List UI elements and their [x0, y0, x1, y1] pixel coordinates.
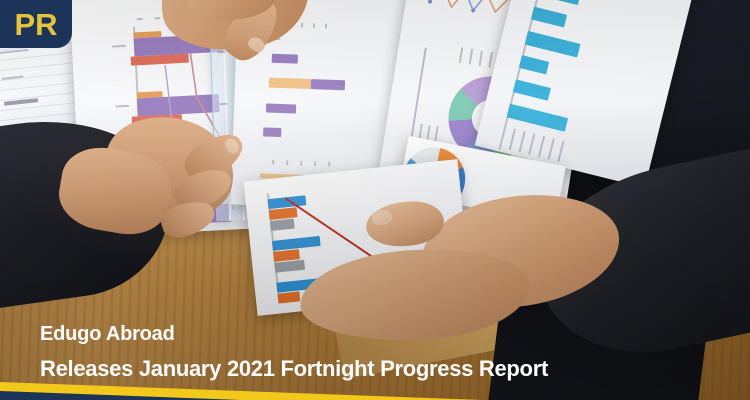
axis-label [538, 136, 545, 158]
axis-tick [314, 161, 316, 166]
axis-label [528, 133, 535, 155]
axis-tick [328, 162, 330, 167]
pr-banner: PR Edugo Abroad Releases January 2021 Fo… [0, 0, 750, 400]
bar [531, 7, 567, 28]
ruler-mark [219, 103, 227, 105]
axis-label [557, 141, 564, 163]
bar-segment [311, 79, 345, 90]
headline-line-1: Edugo Abroad [40, 322, 548, 346]
bar [513, 79, 551, 100]
axis-label [518, 131, 525, 153]
bar [263, 127, 281, 137]
bar [272, 54, 298, 64]
bar [525, 31, 581, 58]
bar [266, 104, 296, 114]
pr-logo-text: PR [14, 9, 57, 40]
axis-label [548, 138, 555, 160]
bar-segment [270, 219, 295, 231]
bar [537, 0, 581, 5]
bar [507, 104, 569, 132]
ruler-mark [217, 51, 225, 53]
headline-band: Edugo Abroad Releases January 2021 Fortn… [0, 270, 750, 400]
axis-label [459, 47, 463, 63]
axis-tick [272, 160, 274, 165]
pr-logo-badge[interactable]: PR [0, 0, 72, 48]
axis-label [509, 128, 516, 150]
axis-tick [325, 24, 327, 29]
headline-text-block: Edugo Abroad Releases January 2021 Fortn… [40, 322, 548, 382]
axis-tick [313, 23, 315, 28]
axis-tick [301, 23, 303, 28]
axis-tick [286, 160, 288, 165]
axis-label [469, 49, 473, 65]
axis-label [479, 50, 483, 66]
axis-line [410, 47, 427, 142]
bar [519, 55, 549, 74]
headline-line-2: Releases January 2021 Fortnight Progress… [40, 356, 548, 382]
axis-label [488, 52, 492, 68]
bar-segment [269, 78, 311, 89]
axis-tick [300, 161, 302, 166]
